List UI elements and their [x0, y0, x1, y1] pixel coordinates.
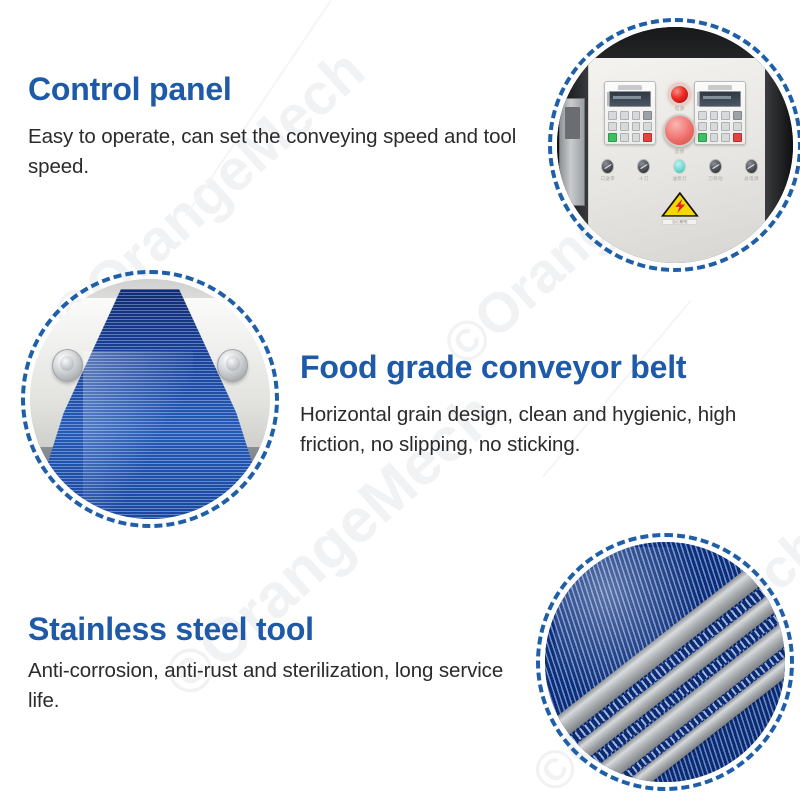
illuminated-button-pump[interactable]: 油泵灯	[669, 159, 690, 182]
vfd-key-run[interactable]	[608, 133, 617, 142]
knob-label: 口送带	[597, 176, 618, 182]
blade-scene	[545, 542, 785, 782]
vfd-key[interactable]	[632, 111, 641, 120]
conveyor-belt-scene	[30, 279, 270, 519]
feature-text-stainless-steel-tool: Stainless steel tool Anti-corrosion, ant…	[28, 612, 508, 715]
vfd-key-stop[interactable]	[643, 133, 652, 142]
vfd-key-down[interactable]	[620, 133, 629, 142]
vfd-keypad-left[interactable]	[604, 81, 656, 145]
vfd-cap	[618, 85, 642, 91]
feature-title: Stainless steel tool	[28, 612, 508, 648]
feature-text-control-panel: Control panel Easy to operate, can set t…	[28, 72, 528, 181]
vfd-key-right[interactable]	[643, 122, 652, 131]
power-indicator-label: 电源	[656, 106, 703, 112]
feature-photo-stainless-steel-tool	[536, 533, 794, 791]
selector-knob-tool[interactable]: 十刀	[633, 159, 654, 182]
vfd-keypad-right[interactable]	[694, 81, 746, 145]
button-lens[interactable]	[673, 159, 686, 174]
conveyor-belt-photo	[30, 279, 270, 519]
stainless-steel-blade-photo	[545, 542, 785, 782]
vfd-cap	[708, 85, 732, 91]
vfd-key-right[interactable]	[733, 122, 742, 131]
vfd-key[interactable]	[710, 122, 719, 131]
vfd-key[interactable]	[608, 111, 617, 120]
vfd-key[interactable]	[721, 133, 730, 142]
chrome-bolt-fitting	[52, 349, 83, 382]
hazard-triangle-icon	[661, 192, 699, 217]
vfd-key-left[interactable]	[608, 122, 617, 131]
feature-title: Food grade conveyor belt	[300, 350, 790, 386]
feature-title: Control panel	[28, 72, 528, 108]
vfd-key-left[interactable]	[698, 122, 707, 131]
vfd-key[interactable]	[721, 122, 730, 131]
belt-highlight	[555, 547, 704, 696]
knob-dial[interactable]	[601, 159, 614, 174]
selector-knob-row: 口送带 十刀 油泵灯 刀转动	[597, 159, 762, 187]
vfd-display-screen	[609, 91, 651, 107]
chrome-bolt-fitting	[217, 349, 248, 382]
side-breaker-box	[559, 98, 585, 207]
electrical-hazard-label: 当心触电	[661, 192, 699, 225]
feature-text-conveyor-belt: Food grade conveyor belt Horizontal grai…	[300, 350, 790, 459]
selector-knob-blade[interactable]: 刀转动	[705, 159, 726, 182]
feature-description: Easy to operate, can set the conveying s…	[28, 122, 528, 181]
vfd-key-up[interactable]	[710, 111, 719, 120]
hazard-caption: 当心触电	[662, 219, 697, 226]
knob-label: 油泵灯	[669, 176, 690, 182]
feature-infographic-page: ©OrangeMech ©OrangeMech ©OrangeMech ©Ora…	[0, 0, 800, 800]
vfd-key-mode[interactable]	[733, 111, 742, 120]
knob-label: 总电源	[741, 176, 762, 182]
vfd-keypad-buttons[interactable]	[608, 111, 652, 142]
vfd-key-down[interactable]	[710, 133, 719, 142]
vfd-keypad-buttons[interactable]	[698, 111, 742, 142]
vfd-key[interactable]	[632, 122, 641, 131]
knob-label: 十刀	[633, 176, 654, 182]
feature-photo-conveyor-belt	[21, 270, 279, 528]
vfd-display-screen	[699, 91, 741, 107]
vfd-key-mode[interactable]	[643, 111, 652, 120]
vfd-key-up[interactable]	[620, 111, 629, 120]
vfd-key[interactable]	[620, 122, 629, 131]
machine-frame-right	[765, 27, 793, 263]
vfd-key-run[interactable]	[698, 133, 707, 142]
power-indicator-lamp	[669, 84, 690, 105]
knob-dial[interactable]	[745, 159, 758, 174]
control-panel-scene: 电源 急停 口送带 十刀 油泵灯	[557, 27, 793, 263]
control-panel-photo: 电源 急停 口送带 十刀 油泵灯	[557, 27, 793, 263]
knob-dial[interactable]	[709, 159, 722, 174]
selector-knob-conveyor[interactable]: 口送带	[597, 159, 618, 182]
feature-description: Horizontal grain design, clean and hygie…	[300, 400, 790, 459]
vfd-key[interactable]	[721, 111, 730, 120]
selector-knob-main-power[interactable]: 总电源	[741, 159, 762, 182]
feature-description: Anti-corrosion, anti-rust and sterilizat…	[28, 656, 508, 715]
vfd-key[interactable]	[632, 133, 641, 142]
knob-label: 刀转动	[705, 176, 726, 182]
knob-dial[interactable]	[637, 159, 650, 174]
feature-photo-control-panel: 电源 急停 口送带 十刀 油泵灯	[548, 18, 800, 272]
vfd-key-stop[interactable]	[733, 133, 742, 142]
emergency-stop-label: 急停	[656, 149, 703, 155]
